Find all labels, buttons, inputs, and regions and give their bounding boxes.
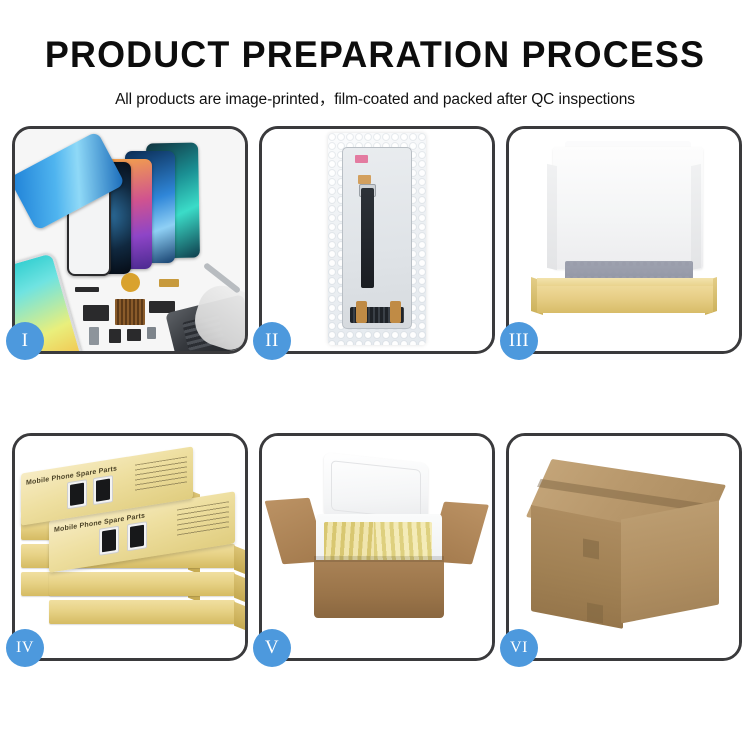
kraft-box-front bbox=[537, 285, 713, 313]
page-title: PRODUCT PREPARATION PROCESS bbox=[11, 36, 739, 73]
part-flex-cable bbox=[83, 305, 109, 321]
part-strip bbox=[75, 287, 99, 292]
step-badge-5: V bbox=[253, 629, 291, 667]
sealed-carton-scene bbox=[509, 436, 739, 658]
part-chip-array bbox=[115, 299, 145, 325]
inner-box-scene bbox=[509, 129, 739, 351]
step-badge-1: I bbox=[6, 322, 44, 360]
lcd-flex-cable bbox=[361, 188, 374, 289]
step-1-image bbox=[15, 129, 245, 351]
lcd-tape bbox=[358, 175, 371, 184]
box-screen-thumbnail bbox=[99, 526, 119, 556]
white-foam-sheet bbox=[553, 147, 703, 269]
step-3-image bbox=[509, 129, 739, 351]
box-wall-right bbox=[691, 164, 701, 270]
part-camera bbox=[127, 329, 141, 341]
box-screen-thumbnail bbox=[127, 521, 147, 551]
process-step-3[interactable]: III bbox=[506, 126, 742, 354]
process-step-1[interactable]: I bbox=[12, 126, 248, 354]
carton-body bbox=[314, 560, 444, 618]
bubble-wrap-bag bbox=[328, 133, 426, 345]
process-step-2[interactable]: II bbox=[259, 126, 495, 354]
page-subtitle: All products are image-printed，film-coat… bbox=[0, 87, 750, 109]
printed-box-stack: Mobile Phone Spare Parts Mobile Phone Sp… bbox=[21, 448, 243, 648]
process-step-grid: I II bbox=[6, 126, 744, 661]
process-step-4[interactable]: Mobile Phone Spare Parts Mobile Phone Sp… bbox=[12, 433, 248, 661]
part-flex-gold bbox=[159, 279, 179, 287]
page-header: PRODUCT PREPARATION PROCESS All products… bbox=[0, 0, 750, 109]
box-side bbox=[234, 546, 245, 575]
box-side bbox=[234, 602, 245, 631]
lcd-screen bbox=[342, 147, 412, 329]
stacked-box bbox=[49, 572, 235, 596]
carton-right-face bbox=[621, 500, 719, 623]
box-side bbox=[234, 574, 245, 603]
step-badge-4: IV bbox=[6, 629, 44, 667]
lcd-ic-left bbox=[356, 301, 367, 323]
phones-and-parts-scene bbox=[15, 129, 245, 351]
step-4-image: Mobile Phone Spare Parts Mobile Phone Sp… bbox=[15, 436, 245, 658]
step-badge-3: III bbox=[500, 322, 538, 360]
part-button bbox=[109, 329, 121, 343]
carton-packing-scene bbox=[262, 436, 492, 658]
step-5-image bbox=[262, 436, 492, 658]
spare-parts-cluster bbox=[75, 269, 245, 351]
pink-label-sticker bbox=[355, 155, 368, 163]
box-stack-scene: Mobile Phone Spare Parts Mobile Phone Sp… bbox=[15, 436, 245, 658]
carton-left-face bbox=[531, 505, 623, 629]
carton-tab-lower bbox=[587, 602, 603, 623]
bubble-wrap-scene bbox=[262, 129, 492, 351]
box-screen-thumbnail bbox=[67, 479, 87, 509]
part-bracket bbox=[89, 327, 99, 345]
lcd-ic-right bbox=[390, 301, 401, 323]
step-6-image bbox=[509, 436, 739, 658]
carton-tab-upper bbox=[583, 538, 599, 559]
box-spec-lines bbox=[177, 501, 229, 537]
box-screen-thumbnail bbox=[93, 475, 113, 505]
box-spec-lines bbox=[135, 456, 187, 492]
part-speaker-coil bbox=[121, 273, 140, 292]
process-step-5[interactable]: V bbox=[259, 433, 495, 661]
stacked-box bbox=[49, 600, 235, 624]
step-badge-6: VI bbox=[500, 629, 538, 667]
process-step-6[interactable]: VI bbox=[506, 433, 742, 661]
part-screw-holder bbox=[147, 327, 156, 339]
box-wall-left bbox=[547, 164, 557, 270]
step-2-image bbox=[262, 129, 492, 351]
step-badge-2: II bbox=[253, 322, 291, 360]
